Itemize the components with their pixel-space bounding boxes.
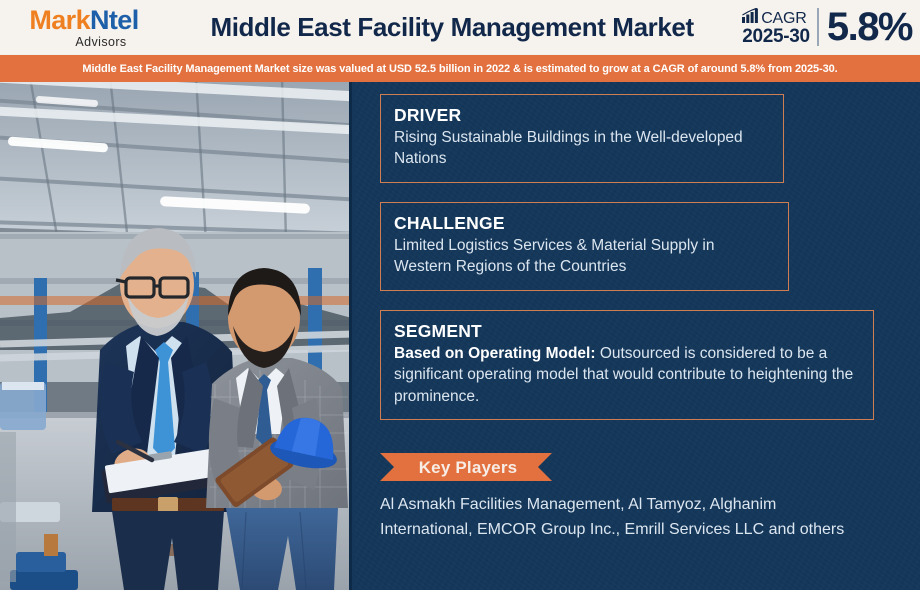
key-players-ribbon-shape: Key Players bbox=[380, 453, 552, 481]
challenge-card-body: Limited Logistics Services & Material Su… bbox=[394, 235, 775, 277]
driver-card-title: DRIVER bbox=[394, 105, 770, 125]
key-players-ribbon-label: Key Players bbox=[415, 459, 518, 476]
market-summary-text: Middle East Facility Management Market s… bbox=[82, 63, 837, 75]
key-players-list: Al Asmakh Facilities Management, Al Tamy… bbox=[380, 493, 870, 543]
logo-wordmark: MarkNtel bbox=[29, 7, 138, 34]
hero-photo-illustration bbox=[0, 82, 352, 590]
cagr-label-text: CAGR bbox=[761, 11, 806, 27]
segment-card: SEGMENT Based on Operating Model: Outsou… bbox=[380, 310, 874, 420]
hero-photo bbox=[0, 82, 352, 590]
market-summary-bar: Middle East Facility Management Market s… bbox=[0, 54, 920, 82]
page-title: Middle East Facility Management Market bbox=[168, 12, 742, 43]
segment-card-body-label: Based on Operating Model: bbox=[394, 345, 596, 362]
cagr-value: 5.8% bbox=[827, 7, 912, 47]
content-panel: DRIVER Rising Sustainable Buildings in t… bbox=[355, 82, 920, 590]
challenge-card: CHALLENGE Limited Logistics Services & M… bbox=[380, 202, 789, 291]
cagr-block: CAGR 2025-30 5.8% bbox=[742, 0, 920, 54]
infographic-root: MarkNtel Advisors Middle East Facility M… bbox=[0, 0, 920, 590]
logo-word-ntel: Ntel bbox=[90, 5, 139, 35]
cagr-period: 2025-30 bbox=[742, 27, 810, 46]
driver-card: DRIVER Rising Sustainable Buildings in t… bbox=[380, 94, 784, 183]
challenge-card-title: CHALLENGE bbox=[394, 213, 775, 233]
logo-subtitle: Advisors bbox=[75, 36, 126, 49]
cagr-divider bbox=[817, 8, 819, 46]
driver-card-body: Rising Sustainable Buildings in the Well… bbox=[394, 127, 770, 169]
cagr-label-row: CAGR bbox=[742, 8, 806, 27]
header-bar: MarkNtel Advisors Middle East Facility M… bbox=[0, 0, 920, 54]
bar-chart-icon bbox=[742, 8, 759, 27]
cagr-label-group: CAGR 2025-30 bbox=[742, 8, 817, 47]
logo-word-mark: Mark bbox=[29, 5, 90, 35]
brand-logo[interactable]: MarkNtel Advisors bbox=[0, 0, 168, 54]
segment-card-title: SEGMENT bbox=[394, 321, 860, 341]
key-players-ribbon: Key Players bbox=[380, 453, 552, 481]
segment-card-body: Based on Operating Model: Outsourced is … bbox=[394, 343, 860, 407]
